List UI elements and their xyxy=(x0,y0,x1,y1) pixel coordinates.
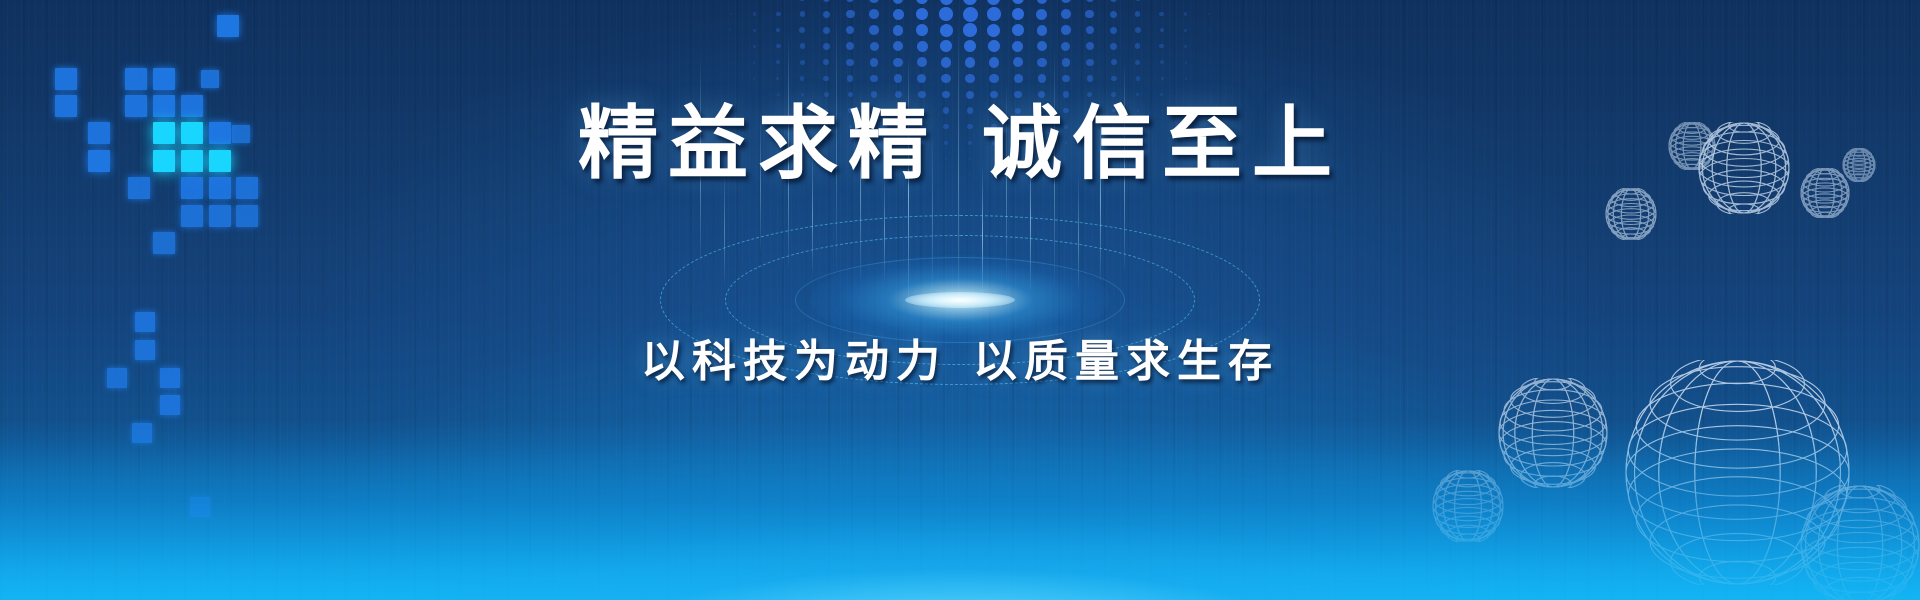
dot-matrix-dot xyxy=(916,0,928,4)
dot-matrix-dot xyxy=(963,23,977,37)
pixel-square xyxy=(201,70,219,88)
pixel-square xyxy=(153,232,175,254)
light-burst-glow xyxy=(650,150,1270,450)
dot-matrix-dot xyxy=(1086,26,1094,34)
wireframe-globe xyxy=(1800,485,1920,600)
dot-matrix-dot xyxy=(1061,0,1071,3)
perspective-grid-floor xyxy=(0,420,1920,600)
dot-matrix-dot xyxy=(1014,74,1023,83)
dot-matrix-dot xyxy=(917,74,926,83)
dot-matrix-dot xyxy=(1085,10,1094,19)
pixel-square xyxy=(190,497,210,517)
dot-matrix-dot xyxy=(823,0,830,2)
dot-matrix-dot xyxy=(1110,43,1117,50)
dot-matrix-dot xyxy=(1086,0,1094,2)
dot-matrix-dot xyxy=(1233,94,1234,95)
dot-matrix-dot xyxy=(989,57,1000,68)
dot-matrix-dot xyxy=(729,78,730,79)
dot-matrix-dot xyxy=(940,40,952,52)
dot-matrix-row xyxy=(690,38,1250,54)
dot-matrix-dot xyxy=(846,0,854,2)
dot-matrix-dot xyxy=(871,91,877,97)
dot-matrix-dot xyxy=(1063,91,1069,97)
pixel-square xyxy=(209,205,231,227)
dot-matrix-dot xyxy=(1184,45,1187,48)
dot-matrix-dot xyxy=(1234,78,1235,79)
dot-matrix-dot xyxy=(942,91,950,99)
dot-matrix-dot xyxy=(917,57,927,67)
dot-matrix-dot xyxy=(1208,13,1210,15)
dot-matrix-dot xyxy=(1136,76,1140,80)
dot-matrix-dot xyxy=(988,40,1000,52)
pixel-square xyxy=(236,205,258,227)
light-streak xyxy=(1078,175,1079,290)
dot-matrix-dot xyxy=(846,10,855,19)
dot-matrix-dot xyxy=(918,91,926,99)
dot-matrix-dot xyxy=(706,30,707,31)
subheadline-part-2: 以质量求生存 xyxy=(973,337,1279,386)
pixel-square xyxy=(160,395,180,415)
dot-matrix-dot xyxy=(869,25,879,35)
pixel-square xyxy=(181,205,203,227)
dot-matrix-dot xyxy=(940,24,953,37)
dot-matrix-dot xyxy=(987,7,1001,21)
wireframe-globe-group-lower xyxy=(1430,360,1920,600)
dot-matrix-dot xyxy=(1061,42,1070,51)
dot-matrix-dot xyxy=(706,62,707,63)
orbit-ring-inner xyxy=(795,257,1125,343)
dot-matrix-dot xyxy=(1160,60,1164,64)
dot-matrix-dot xyxy=(894,74,902,82)
page-subtitle: 以科技为动力以质量求生存 xyxy=(0,340,1920,384)
dot-matrix-dot xyxy=(753,77,755,79)
dot-matrix-dot xyxy=(1135,11,1141,17)
dot-matrix-dot xyxy=(893,58,902,67)
dot-matrix-row xyxy=(690,22,1250,38)
dot-matrix-dot xyxy=(1086,42,1094,50)
dot-matrix-dot xyxy=(1036,9,1047,20)
dot-matrix-dot xyxy=(1159,44,1163,48)
dot-matrix-dot xyxy=(916,8,928,20)
dot-matrix-dot xyxy=(965,57,976,68)
vertical-texture-overlay-secondary xyxy=(0,0,1920,600)
dot-matrix-dot xyxy=(1038,74,1046,82)
dot-matrix-dot xyxy=(1185,77,1187,79)
dot-matrix-dot xyxy=(730,45,732,47)
dot-matrix-dot xyxy=(800,11,806,17)
dot-matrix-dot xyxy=(893,25,904,36)
dot-matrix-dot xyxy=(1062,75,1069,82)
dot-matrix-dot xyxy=(823,27,830,34)
dot-matrix-dot xyxy=(1233,62,1234,63)
dot-matrix-dot xyxy=(1087,75,1094,82)
dot-matrix-dot xyxy=(1110,11,1117,18)
dot-matrix-dot xyxy=(1160,93,1163,96)
dot-matrix-dot xyxy=(1012,24,1024,36)
dot-matrix-dot xyxy=(1184,12,1187,15)
dot-matrix-dot xyxy=(869,9,879,19)
dot-matrix-row xyxy=(690,0,1250,6)
tech-banner: 精益求精诚信至上 以科技为动力以质量求生存 xyxy=(0,0,1920,600)
dot-matrix-dot xyxy=(823,76,828,81)
dot-matrix-dot xyxy=(729,62,730,63)
pixel-square xyxy=(135,312,155,332)
dot-matrix-dot xyxy=(964,40,976,52)
dot-matrix-dot xyxy=(870,58,878,66)
dot-matrix-dot xyxy=(916,24,928,36)
dot-matrix-dot xyxy=(870,75,877,82)
dot-matrix-dot xyxy=(799,0,805,1)
dot-matrix-dot xyxy=(1037,58,1046,67)
dot-matrix-dot xyxy=(987,24,1000,37)
subheadline-part-1: 以科技为动力 xyxy=(641,337,947,386)
dot-matrix-row xyxy=(690,6,1250,22)
dot-matrix-dot xyxy=(800,60,805,65)
dot-matrix-dot xyxy=(846,59,853,66)
dot-matrix-dot xyxy=(1014,91,1022,99)
dot-matrix-dot xyxy=(730,94,731,95)
dot-matrix-dot xyxy=(823,59,829,65)
dot-matrix-dot xyxy=(1209,94,1210,95)
dot-matrix-dot xyxy=(753,12,756,15)
pixel-square xyxy=(55,68,77,90)
dot-matrix-dot xyxy=(1185,94,1186,95)
pixel-square xyxy=(125,68,147,90)
dot-matrix-dot xyxy=(1210,78,1211,79)
dot-matrix-dot xyxy=(776,77,779,80)
dot-matrix-dot xyxy=(870,42,879,51)
dot-matrix-dot xyxy=(776,44,780,48)
dot-matrix-dot xyxy=(1161,77,1164,80)
dot-matrix-dot xyxy=(753,29,756,32)
dot-matrix-dot xyxy=(893,0,904,4)
dot-matrix-dot xyxy=(753,45,756,48)
dot-matrix-dot xyxy=(1184,29,1187,32)
dot-matrix-dot xyxy=(1135,60,1140,65)
dot-matrix-dot xyxy=(1012,41,1023,52)
dot-matrix-dot xyxy=(1037,0,1048,4)
dot-matrix-dot xyxy=(1087,92,1093,98)
dot-matrix-dot xyxy=(776,12,781,17)
pixel-square xyxy=(217,15,239,37)
dot-matrix-dot xyxy=(846,42,854,50)
dot-matrix-dot xyxy=(893,9,904,20)
page-title: 精益求精诚信至上 xyxy=(0,104,1920,184)
dot-matrix-dot xyxy=(1012,0,1024,4)
burst-core-highlight xyxy=(905,292,1015,308)
dot-matrix-dot xyxy=(846,26,854,34)
dot-matrix-dot xyxy=(1110,27,1117,34)
dot-matrix-dot xyxy=(963,0,977,5)
dot-matrix-dot xyxy=(753,61,756,64)
dot-matrix-dot xyxy=(823,11,830,18)
dot-matrix-dot xyxy=(824,92,829,97)
dot-matrix-dot xyxy=(1159,12,1164,17)
pixel-square xyxy=(153,68,175,90)
dot-matrix-dot xyxy=(990,91,998,99)
dot-matrix-dot xyxy=(941,57,952,68)
pixel-square-cluster-lower xyxy=(80,275,310,520)
dot-matrix-dot xyxy=(1185,61,1188,64)
dot-matrix-row xyxy=(690,54,1250,70)
dot-matrix-dot xyxy=(1233,46,1234,47)
dot-matrix-dot xyxy=(987,0,1000,5)
headline-part-1: 精益求精 xyxy=(578,99,938,188)
dot-matrix-dot xyxy=(1061,9,1071,19)
dot-matrix-dot xyxy=(917,41,928,52)
dot-matrix-dot xyxy=(799,27,805,33)
dot-matrix-dot xyxy=(1111,92,1116,97)
dot-matrix-dot xyxy=(705,78,706,79)
dot-matrix-dot xyxy=(869,0,879,3)
dot-matrix-dot xyxy=(941,74,950,83)
dot-matrix-dot xyxy=(1037,41,1047,51)
dot-matrix-dot xyxy=(895,91,902,98)
dot-matrix-dot xyxy=(1135,43,1141,49)
dot-matrix-dot xyxy=(1110,0,1117,2)
dot-matrix-dot xyxy=(1111,76,1116,81)
dot-matrix-dot xyxy=(1135,0,1141,1)
dot-matrix-dot xyxy=(939,7,953,21)
dot-matrix-dot xyxy=(706,46,707,47)
dot-matrix-dot xyxy=(966,91,974,99)
burst-core-glow xyxy=(810,255,1110,345)
wireframe-globe xyxy=(1605,188,1657,245)
dot-matrix-dot xyxy=(1136,93,1140,97)
dot-matrix-dot xyxy=(1012,8,1024,20)
dot-matrix-dot xyxy=(729,29,731,31)
dot-matrix-dot xyxy=(776,60,780,64)
wireframe-globe xyxy=(1498,378,1608,493)
headline-part-2: 诚信至上 xyxy=(982,99,1342,188)
dot-matrix-dot xyxy=(1061,25,1071,35)
dot-matrix-dot xyxy=(706,14,707,15)
dot-matrix-dot xyxy=(965,74,974,83)
dot-matrix-dot xyxy=(963,7,978,22)
vertical-texture-overlay xyxy=(0,0,1920,600)
dot-matrix-dot xyxy=(1038,91,1045,98)
dot-matrix-dot xyxy=(1013,57,1023,67)
dot-matrix-dot xyxy=(823,43,830,50)
dot-matrix-dot xyxy=(989,74,998,83)
dot-matrix-dot xyxy=(1233,30,1234,31)
dot-matrix-dot xyxy=(1062,58,1070,66)
dot-matrix-dot xyxy=(777,93,780,96)
dot-matrix-dot xyxy=(848,92,854,98)
dot-matrix-dot xyxy=(940,0,953,5)
dot-matrix-dot xyxy=(730,13,732,15)
dot-matrix-dot xyxy=(1209,62,1210,63)
dot-matrix-dot xyxy=(800,43,806,49)
dot-matrix-row xyxy=(690,70,1250,86)
dot-matrix-dot xyxy=(1111,59,1117,65)
pixel-square xyxy=(132,423,152,443)
vertical-light-streaks xyxy=(0,0,1920,600)
dot-matrix-dot xyxy=(893,41,903,51)
dot-matrix-dot xyxy=(754,94,755,95)
wireframe-globe xyxy=(1432,470,1504,547)
dot-matrix-dot xyxy=(1037,25,1048,36)
dot-matrix-dot xyxy=(1233,14,1234,15)
dot-matrix-dot xyxy=(1209,45,1211,47)
dot-matrix-dot xyxy=(706,94,707,95)
dot-matrix-dot xyxy=(776,28,781,33)
dot-matrix-dot xyxy=(801,93,805,97)
dot-matrix-dot xyxy=(1209,29,1211,31)
dot-matrix-dot xyxy=(1160,28,1165,33)
dot-matrix-dot xyxy=(800,76,804,80)
dot-matrix-dot xyxy=(1135,27,1141,33)
wireframe-globe xyxy=(1625,360,1850,590)
dot-matrix-dot xyxy=(1086,59,1093,66)
floor-glow xyxy=(0,420,1920,600)
dot-matrix-dot xyxy=(847,75,854,82)
